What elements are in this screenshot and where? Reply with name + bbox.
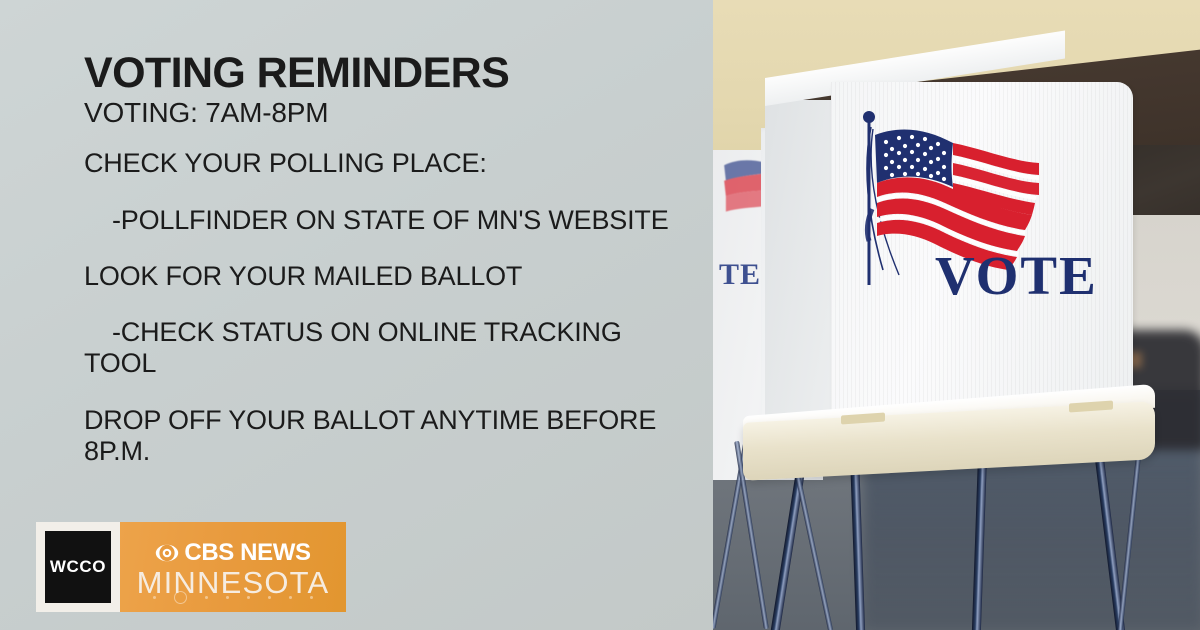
voting-reminders-graphic: VOTING REMINDERS VOTING: 7AM-8PM CHECK Y…	[0, 0, 1200, 630]
network-logo-label: CBS NEWS	[184, 541, 310, 565]
station-logo: WCCO	[36, 522, 120, 612]
station-logo-label: WCCO	[50, 557, 106, 577]
logo-dot	[226, 596, 229, 599]
reminder-item: CHECK YOUR POLLING PLACE:	[84, 148, 684, 179]
network-logo-panel: CBS NEWS MINNESOTA	[120, 522, 346, 612]
logo-dot	[205, 596, 208, 599]
logo-dot	[289, 596, 292, 599]
logo-dot	[247, 596, 250, 599]
reminder-item: LOOK FOR YOUR MAILED BALLOT	[84, 261, 684, 292]
reminder-item: -CHECK STATUS ON ONLINE TRACKING TOOL	[84, 317, 684, 380]
booth-label-far: TE	[719, 258, 761, 292]
logo-dot	[310, 596, 313, 599]
logo-dot	[153, 596, 156, 599]
logo-dot	[268, 596, 271, 599]
voting-hours-subhead: VOTING: 7AM-8PM	[84, 97, 684, 128]
page-title: VOTING REMINDERS	[84, 52, 684, 96]
logo-dot-ring	[174, 591, 187, 604]
main-booth-side-panel	[765, 100, 833, 430]
logo-bar: WCCO CBS NEWS MINNESOTA	[36, 522, 346, 612]
cbs-eye-icon	[155, 544, 179, 562]
logo-dot-row	[120, 591, 346, 604]
booth-label-main: VOTE	[935, 248, 1098, 303]
polling-place-photo: TE VOTE	[713, 0, 1200, 630]
reminder-item: -POLLFINDER ON STATE OF MN'S WEBSITE	[84, 205, 684, 236]
info-panel: VOTING REMINDERS VOTING: 7AM-8PM CHECK Y…	[0, 0, 713, 630]
info-text-block: VOTING REMINDERS VOTING: 7AM-8PM CHECK Y…	[84, 52, 684, 492]
station-logo-box: WCCO	[45, 531, 111, 603]
network-logo-row: CBS NEWS	[155, 540, 310, 566]
reminder-item: DROP OFF YOUR BALLOT ANYTIME BEFORE 8P.M…	[84, 405, 684, 468]
